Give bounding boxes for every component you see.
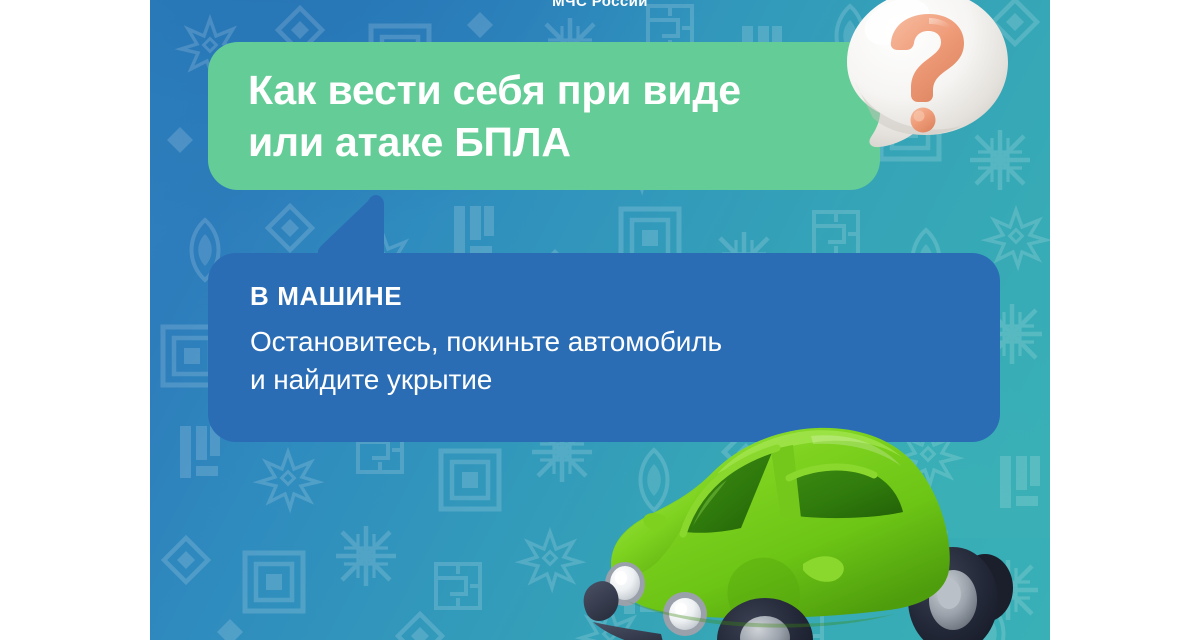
answer-body-text: Остановитесь, покиньте автомобиль и найд… (250, 323, 960, 399)
poster-canvas: МЧС России Как вести себя при виде или а… (0, 0, 1200, 640)
answer-heading: В МАШИНЕ (250, 281, 960, 311)
left-page-margin (0, 0, 150, 640)
organisation-caption: МЧС России (150, 0, 1050, 10)
answer-bubble-tail-icon (318, 195, 390, 255)
answer-bubble: В МАШИНЕ Остановитесь, покиньте автомоби… (208, 253, 1000, 442)
right-page-margin (1050, 0, 1200, 640)
headline-bubble: Как вести себя при виде или атаке БПЛА (208, 42, 880, 190)
headline-text: Как вести себя при виде или атаке БПЛА (248, 64, 836, 168)
poster-artboard: МЧС России Как вести себя при виде или а… (150, 0, 1050, 640)
